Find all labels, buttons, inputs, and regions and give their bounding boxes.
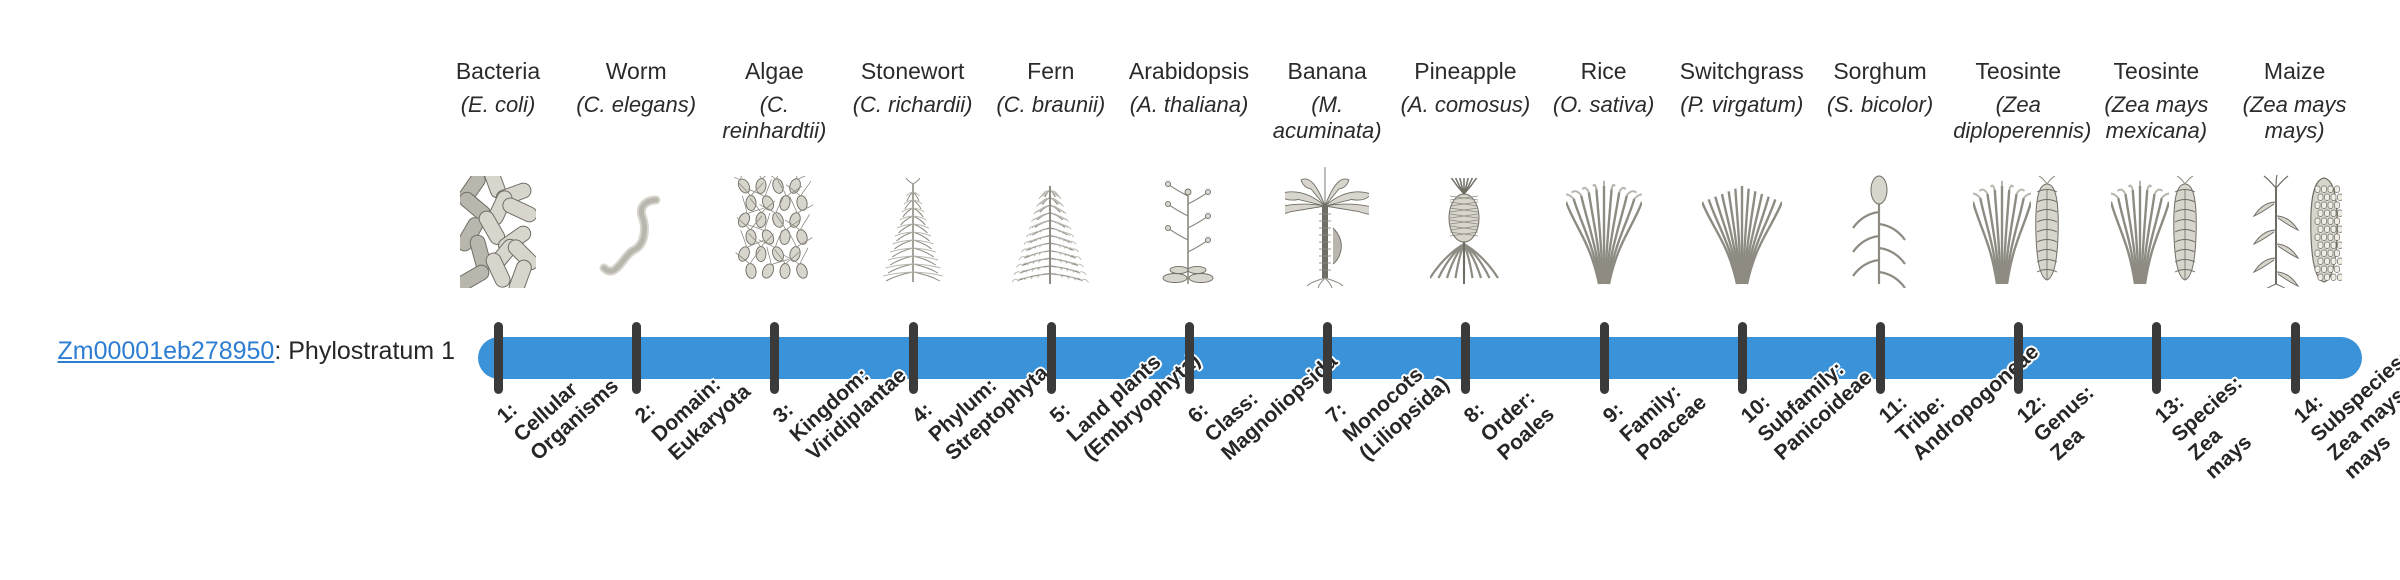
teosinte-illustration xyxy=(2091,178,2221,288)
phylostratum-tick-8[interactable] xyxy=(1461,322,1470,394)
phylostratum-tick-13[interactable] xyxy=(2152,322,2161,394)
stonewort-illustration xyxy=(881,178,945,288)
species-latin-name: (C. reinhardtii) xyxy=(709,92,839,144)
maize-illustration xyxy=(2230,178,2360,288)
phylostratum-tick-7[interactable] xyxy=(1323,322,1332,394)
phylostratum-tick-6[interactable] xyxy=(1185,322,1194,394)
banana-illustration xyxy=(1285,166,1369,288)
species-latin-name: (C. braunii) xyxy=(986,92,1116,118)
phylostratum-tick-14[interactable] xyxy=(2291,322,2300,394)
phylostratum-figure: Zm00001eb278950: Phylostratum 1 Bacteria… xyxy=(0,0,2400,580)
species-latin-name: (P. virgatum) xyxy=(1677,92,1807,118)
rice-illustration xyxy=(1566,176,1642,288)
species-common-name: Teosinte xyxy=(1953,58,2083,85)
phylostratum-tick-2[interactable] xyxy=(632,322,641,394)
pineapple-illustration xyxy=(1400,178,1530,288)
fern-illustration xyxy=(1012,176,1090,288)
rice-illustration xyxy=(1539,178,1669,288)
species-column-fern: Fern(C. braunii) xyxy=(986,0,1116,580)
species-column-banana: Banana(M. acuminata) xyxy=(1262,0,1392,580)
species-common-name: Stonewort xyxy=(848,58,978,85)
maize-plant-illustration xyxy=(2248,172,2306,288)
phylostratum-tick-3[interactable] xyxy=(770,322,779,394)
species-column-teosinte: Teosinte(Zea mays mexicana) xyxy=(2091,0,2221,580)
teosinte-ear-illustration xyxy=(2033,176,2063,288)
species-column-maize: Maize(Zea mays mays) xyxy=(2230,0,2360,580)
species-latin-name: (A. comosus) xyxy=(1400,92,1530,118)
species-latin-name: (O. sativa) xyxy=(1539,92,1669,118)
species-column-arabidopsis: Arabidopsis(A. thaliana) xyxy=(1124,0,1254,580)
species-latin-name: (Zea mays mexicana) xyxy=(2091,92,2221,144)
species-common-name: Switchgrass xyxy=(1677,58,1807,85)
phylostratum-tick-4[interactable] xyxy=(909,322,918,394)
species-latin-name: (A. thaliana) xyxy=(1124,92,1254,118)
species-common-name: Worm xyxy=(571,58,701,85)
species-latin-name: (C. richardii) xyxy=(848,92,978,118)
phylostratum-tick-11[interactable] xyxy=(1876,322,1885,394)
phylostratum-tick-10[interactable] xyxy=(1738,322,1747,394)
species-column-bacteria: Bacteria(E. coli) xyxy=(433,0,563,580)
species-common-name: Maize xyxy=(2230,58,2360,85)
teosinte-ear-illustration xyxy=(2171,176,2201,288)
species-column-switchgrass: Switchgrass(P. virgatum) xyxy=(1677,0,1807,580)
arabidopsis-illustration xyxy=(1154,174,1224,288)
worm-illustration xyxy=(571,178,701,288)
phylostratum-value: Phylostratum 1 xyxy=(288,337,455,365)
species-column-worm: Worm(C. elegans) xyxy=(571,0,701,580)
teosinte-plant-illustration xyxy=(2111,176,2169,288)
species-common-name: Teosinte xyxy=(2091,58,2221,85)
teosinte-illustration xyxy=(1953,178,2083,288)
bacteria-illustration xyxy=(460,176,536,288)
switchgrass-illustration xyxy=(1702,176,1782,288)
species-column-teosinte: Teosinte(Zea diploperennis) xyxy=(1953,0,2083,580)
species-latin-name: (E. coli) xyxy=(433,92,563,118)
species-common-name: Algae xyxy=(709,58,839,85)
banana-illustration xyxy=(1262,178,1392,288)
species-column-rice: Rice(O. sativa) xyxy=(1539,0,1669,580)
species-latin-name: (S. bicolor) xyxy=(1815,92,1945,118)
switchgrass-illustration xyxy=(1677,178,1807,288)
pineapple-illustration xyxy=(1430,174,1500,288)
algae-illustration xyxy=(734,176,814,288)
fern-illustration xyxy=(986,178,1116,288)
sorghum-illustration xyxy=(1845,172,1915,288)
species-latin-name: (Zea mays mays) xyxy=(2230,92,2360,144)
phylostratum-tick-9[interactable] xyxy=(1600,322,1609,394)
maize-ear-illustration xyxy=(2308,172,2342,288)
worm-illustration xyxy=(594,192,678,288)
species-common-name: Banana xyxy=(1262,58,1392,85)
teosinte-plant-illustration xyxy=(1973,176,2031,288)
species-common-name: Sorghum xyxy=(1815,58,1945,85)
row-label: Zm00001eb278950: Phylostratum 1 xyxy=(0,336,455,366)
bacteria-illustration xyxy=(433,178,563,288)
species-column-algae: Algae(C. reinhardtii) xyxy=(709,0,839,580)
gene-id-link[interactable]: Zm00001eb278950 xyxy=(57,337,274,365)
species-column-pineapple: Pineapple(A. comosus) xyxy=(1400,0,1530,580)
species-latin-name: (M. acuminata) xyxy=(1262,92,1392,144)
species-common-name: Arabidopsis xyxy=(1124,58,1254,85)
species-column-stonewort: Stonewort(C. richardii) xyxy=(848,0,978,580)
phylostratum-tick-5[interactable] xyxy=(1047,322,1056,394)
species-common-name: Fern xyxy=(986,58,1116,85)
species-common-name: Pineapple xyxy=(1400,58,1530,85)
species-latin-name: (C. elegans) xyxy=(571,92,701,118)
species-latin-name: (Zea diploperennis) xyxy=(1953,92,2083,144)
species-column-sorghum: Sorghum(S. bicolor) xyxy=(1815,0,1945,580)
species-common-name: Bacteria xyxy=(433,58,563,85)
row-label-separator: : xyxy=(274,337,288,365)
species-common-name: Rice xyxy=(1539,58,1669,85)
arabidopsis-illustration xyxy=(1124,178,1254,288)
phylostratum-tick-12[interactable] xyxy=(2014,322,2023,394)
stonewort-illustration xyxy=(848,178,978,288)
algae-illustration xyxy=(709,178,839,288)
phylostratum-tick-1[interactable] xyxy=(494,322,503,394)
sorghum-illustration xyxy=(1815,178,1945,288)
